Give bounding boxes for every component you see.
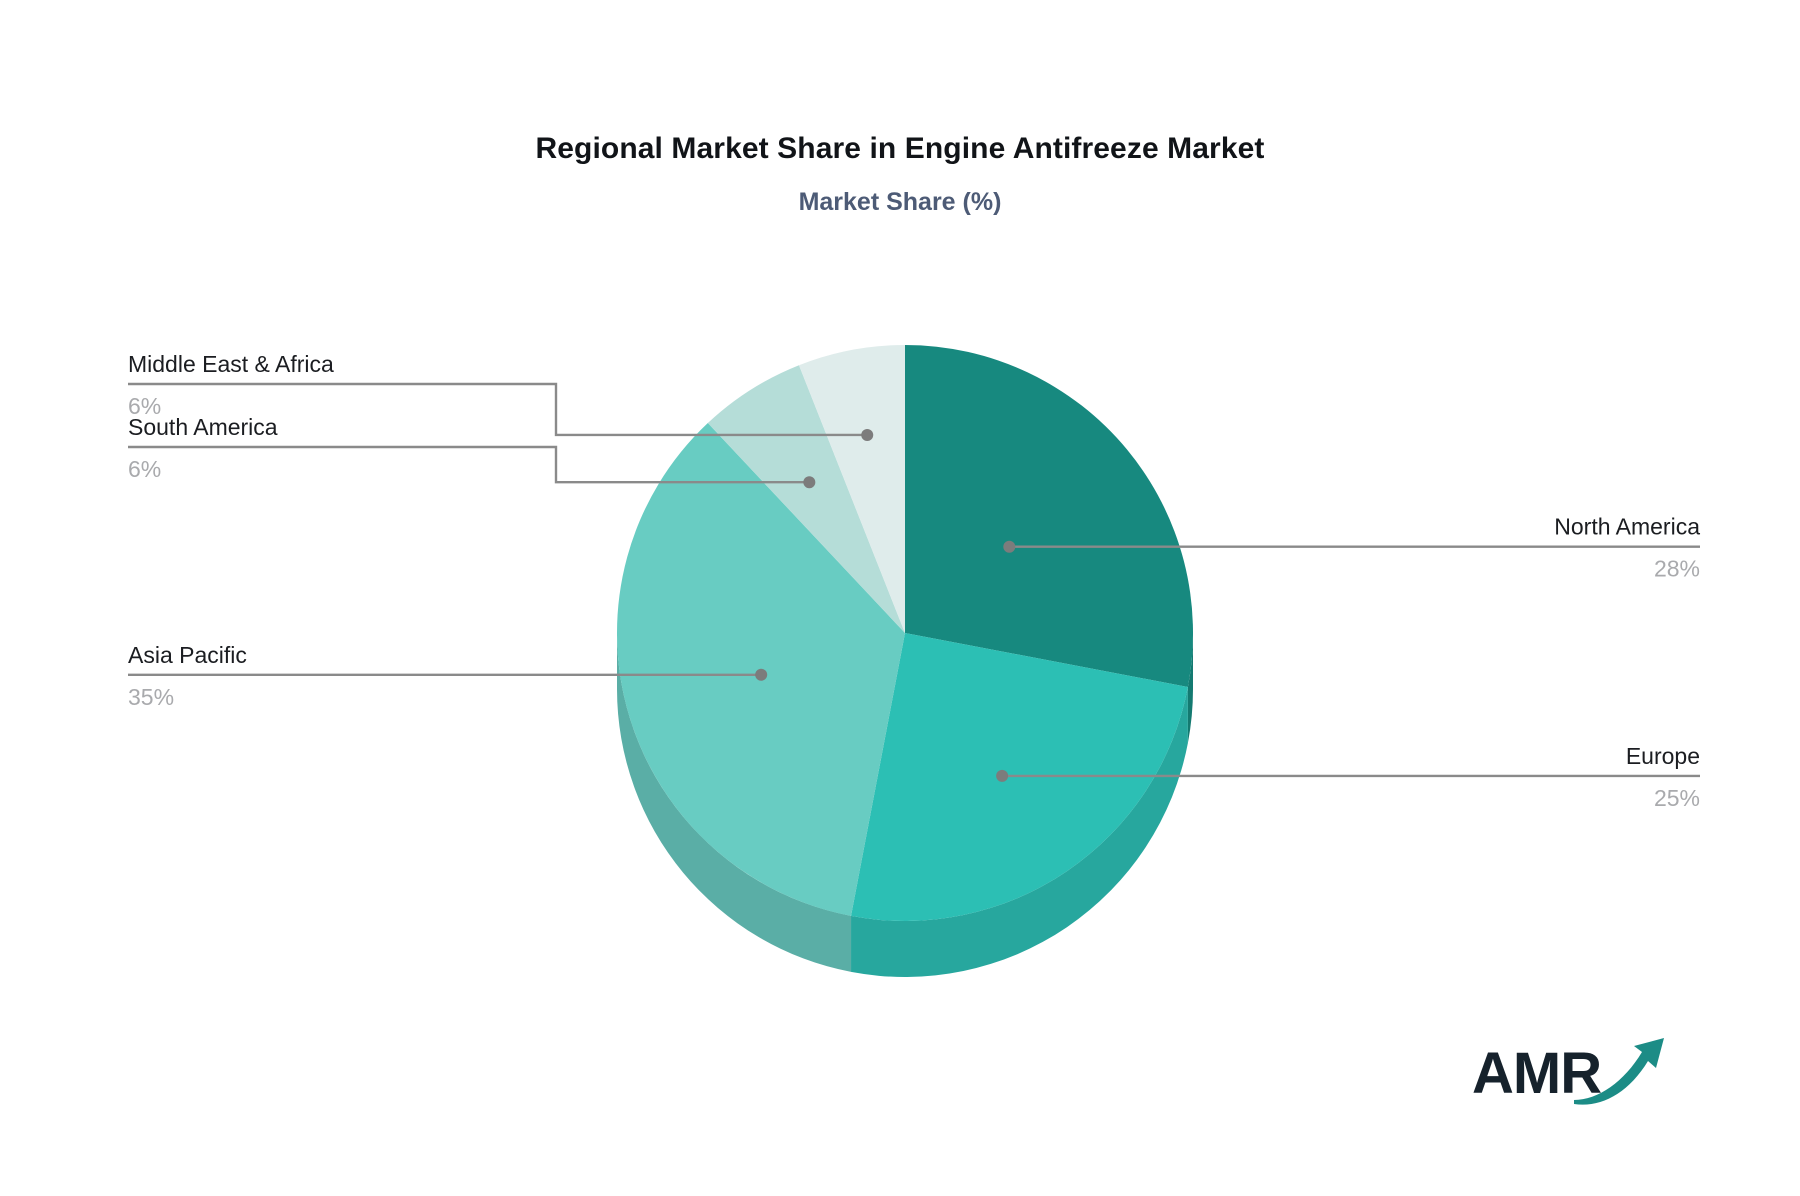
callout-value-south-america: 6% xyxy=(128,456,161,482)
callout-value-north-america: 28% xyxy=(1654,556,1700,582)
leader-dot-europe xyxy=(996,770,1008,782)
pie-slice-north-america[interactable] xyxy=(905,345,1193,687)
callout-name-asia-pacific: Asia Pacific xyxy=(128,642,247,668)
pie-slices xyxy=(617,345,1193,921)
amr-logo: AMR xyxy=(1472,1032,1662,1118)
callout-value-middle-east-africa: 6% xyxy=(128,393,161,419)
chart-canvas: Regional Market Share in Engine Antifree… xyxy=(0,0,1800,1196)
pie-chart-svg: North America28%Europe25%Asia Pacific35%… xyxy=(0,0,1800,1196)
growth-arrow-icon xyxy=(1572,1030,1668,1110)
callout-name-north-america: North America xyxy=(1554,514,1700,540)
leader-dot-south-america xyxy=(803,476,815,488)
callout-name-middle-east-africa: Middle East & Africa xyxy=(128,351,334,377)
callout-name-europe: Europe xyxy=(1626,743,1700,769)
leader-dot-north-america xyxy=(1003,541,1015,553)
leader-dot-asia-pacific xyxy=(755,669,767,681)
leader-dot-middle-east-africa xyxy=(861,429,873,441)
callout-value-europe: 25% xyxy=(1654,785,1700,811)
callout-value-asia-pacific: 35% xyxy=(128,684,174,710)
